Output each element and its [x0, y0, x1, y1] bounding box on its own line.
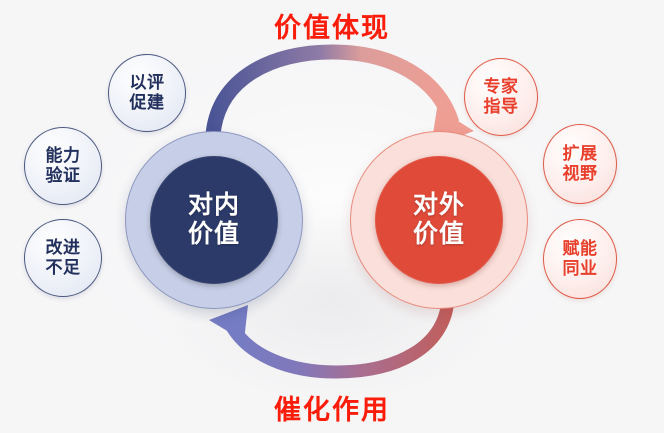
page-title-top: 价值体现 [0, 6, 664, 45]
satellite-yipingcujian-line1: 以评 [130, 73, 165, 93]
node-external-label-line1: 对外 [413, 191, 465, 221]
satellite-gaijinbuzu-line1: 改进 [46, 238, 81, 258]
satellite-kuozhanshiye-line1: 扩展 [563, 144, 598, 164]
external-to-internal-arrow [209, 300, 448, 372]
satellite-zhuanjiazhidao[interactable]: 专家 指导 [464, 58, 538, 136]
node-internal-core: 对内 价值 [150, 156, 278, 284]
page-title-bottom: 催化作用 [0, 388, 664, 427]
node-external-core: 对外 价值 [375, 156, 503, 284]
satellite-nengliyanzheng-line1: 能力 [46, 146, 81, 166]
node-internal-label-line2: 价值 [188, 220, 240, 250]
node-external-value[interactable]: 对外 价值 [350, 131, 528, 309]
satellite-yipingcujian[interactable]: 以评 促建 [108, 54, 186, 132]
arrows-layer [0, 0, 664, 433]
satellite-funengtongye[interactable]: 赋能 同业 [543, 219, 617, 299]
satellite-zhuanjiazhidao-line2: 指导 [484, 97, 519, 117]
node-internal-value[interactable]: 对内 价值 [125, 131, 303, 309]
diagram-canvas: 价值体现 催化作用 对内 价值 对外 价值 以评 促建 能力 验证 改进 不足 … [0, 0, 664, 433]
satellite-funengtongye-line1: 赋能 [563, 239, 598, 259]
satellite-funengtongye-line2: 同业 [563, 259, 598, 279]
satellite-kuozhanshiye-line2: 视野 [563, 164, 598, 184]
satellite-yipingcujian-line2: 促建 [130, 93, 165, 113]
satellite-nengliyanzheng-line2: 验证 [46, 166, 81, 186]
satellite-zhuanjiazhidao-line1: 专家 [484, 77, 519, 97]
node-external-label-line2: 价值 [413, 220, 465, 250]
satellite-gaijinbuzu-line2: 不足 [46, 258, 81, 278]
node-internal-label-line1: 对内 [188, 191, 240, 221]
satellite-nengliyanzheng[interactable]: 能力 验证 [24, 127, 102, 205]
satellite-kuozhanshiye[interactable]: 扩展 视野 [543, 124, 617, 204]
satellite-gaijinbuzu[interactable]: 改进 不足 [24, 219, 102, 297]
